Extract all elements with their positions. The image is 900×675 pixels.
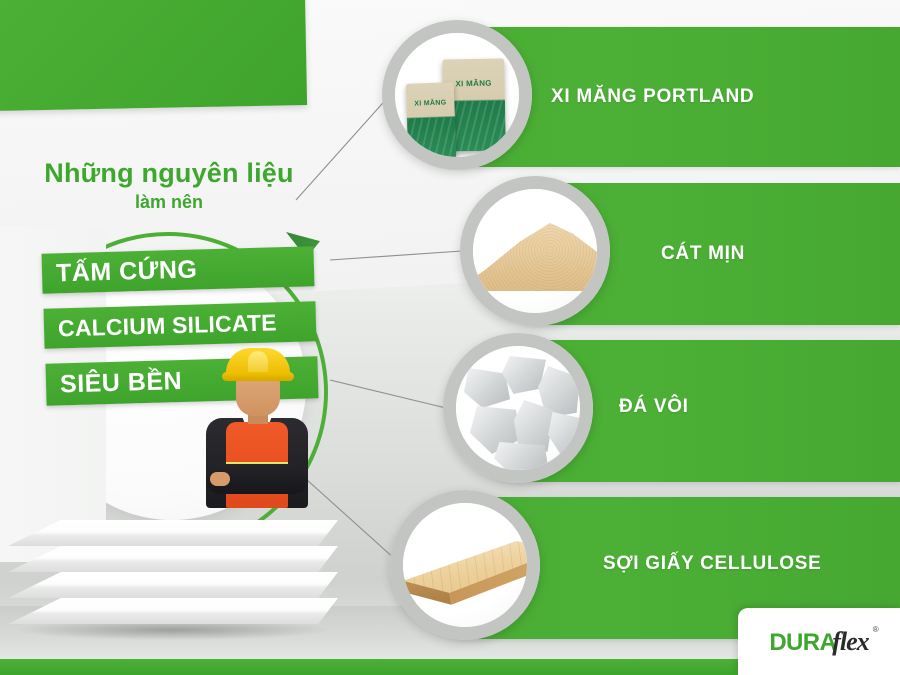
limestone-rocks-icon [460, 350, 576, 466]
headline-line-1: Những nguyên liệu [24, 160, 314, 187]
trademark-symbol: ® [873, 625, 879, 634]
brand-logo: DURAflex® [769, 627, 868, 657]
logo-text-flex: flex [832, 627, 868, 656]
board-sheet [8, 520, 338, 546]
ingredient-circle-limestone [443, 333, 593, 483]
rock [548, 412, 580, 456]
product-bar-3-label: SIÊU BỀN [46, 367, 183, 400]
circle-inner [456, 346, 580, 470]
ingredient-circle-sand [460, 176, 610, 326]
worker-hand [210, 472, 230, 486]
worker-hard-hat-brim [222, 372, 294, 381]
logo-card: DURAflex® [738, 608, 900, 675]
board-sheet [8, 546, 338, 572]
worker-figure-icon [196, 334, 318, 506]
product-bar-1: TẤM CỨNG [41, 246, 314, 294]
headline-line-2: làm nên [24, 193, 314, 211]
bag-body [406, 82, 457, 157]
circle-inner [403, 503, 527, 627]
ingredient-label-4: SỢI GIẤY CELLULOSE [603, 553, 821, 575]
circle-inner: XI MĂNG XI MĂNG [395, 33, 519, 157]
infographic-poster: XI MĂNG XI MĂNG XI MĂNG PORTLAND CÁT MỊN [0, 0, 900, 675]
ingredient-label-2: CÁT MỊN [661, 243, 745, 265]
board-sheet [8, 572, 338, 598]
ingredient-circle-cement: XI MĂNG XI MĂNG [382, 20, 532, 170]
ingredient-label-3: ĐÁ VÔI [619, 396, 689, 418]
wood-board-icon [403, 534, 527, 620]
product-bar-1-label: TẤM CỨNG [42, 255, 198, 288]
logo-text-dura: DURA [769, 629, 836, 656]
ingredient-circle-cellulose [390, 490, 540, 640]
rock [494, 442, 548, 470]
page-title: Những nguyên liệu làm nên [24, 160, 314, 211]
stacked-boards-icon [8, 520, 360, 640]
sand-pile-icon [473, 209, 597, 291]
board-sheet [8, 598, 338, 624]
ingredient-label-1: XI MĂNG PORTLAND [551, 86, 754, 108]
cement-bag-icon: XI MĂNG [406, 82, 457, 157]
circle-inner [473, 189, 597, 313]
